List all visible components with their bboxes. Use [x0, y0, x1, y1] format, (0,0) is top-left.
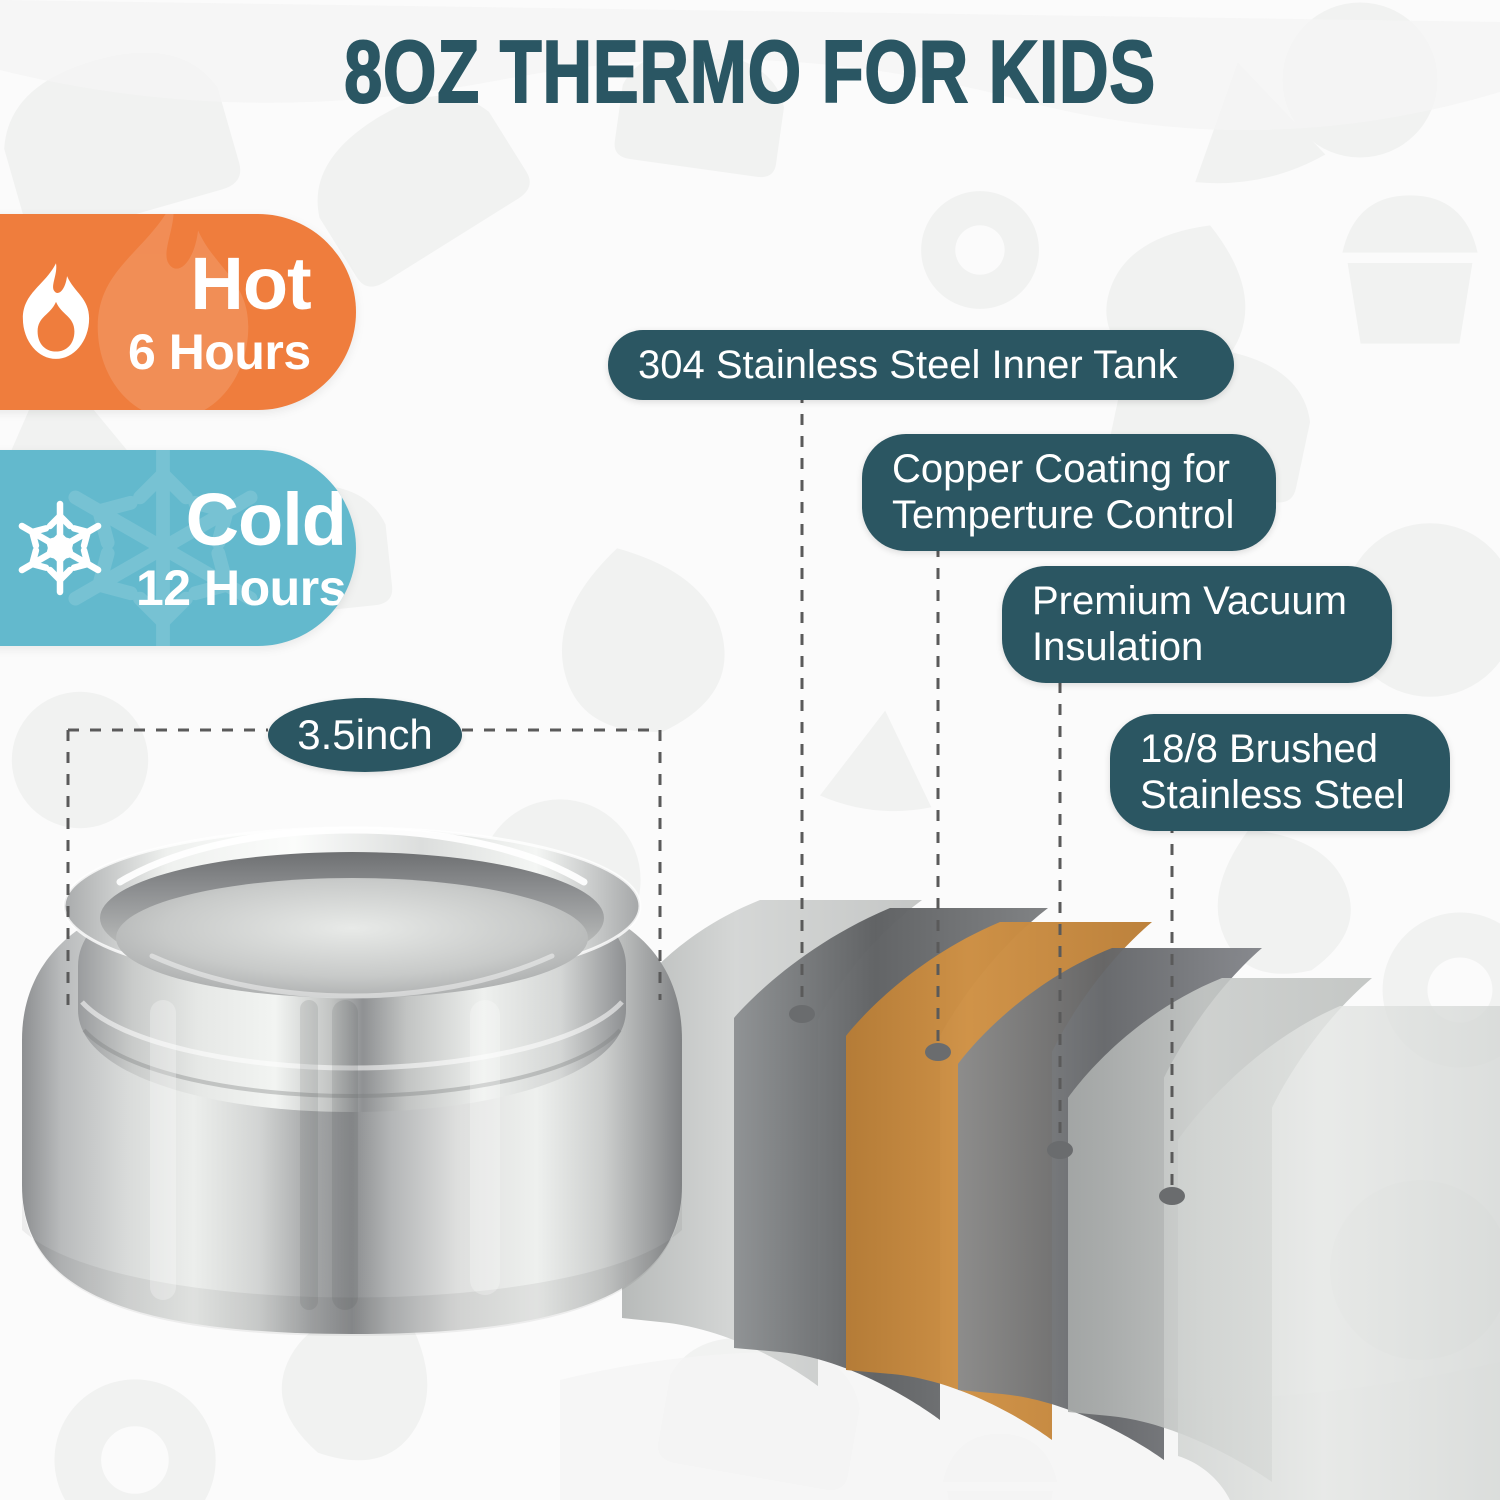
cold-badge-text-group: Cold 12 Hours — [136, 483, 346, 613]
hot-badge-text-group: Hot 6 Hours — [128, 247, 311, 377]
feature-pill-vacuum-insulation: Premium Vacuum Insulation — [1002, 566, 1392, 683]
performance-badge-hot: Hot 6 Hours — [0, 214, 356, 410]
feature-pill-copper-coating: Copper Coating for Temperture Control — [862, 434, 1276, 551]
feature-pill-inner-tank: 304 Stainless Steel Inner Tank — [608, 330, 1234, 400]
page-title: 8OZ THERMO FOR KIDS — [165, 26, 1335, 118]
cold-badge-duration: 12 Hours — [136, 563, 346, 613]
flame-icon — [10, 259, 102, 365]
size-callout-badge: 3.5inch — [268, 698, 462, 772]
hot-badge-title: Hot — [190, 247, 310, 321]
feature-pill-brushed-steel: 18/8 Brushed Stainless Steel — [1110, 714, 1450, 831]
hot-badge-duration: 6 Hours — [128, 327, 311, 377]
infographic-canvas: 8OZ THERMO FOR KIDS Hot 6 Hours — [0, 0, 1500, 1500]
performance-badge-cold: Cold 12 Hours — [0, 450, 356, 646]
cold-badge-title: Cold — [186, 483, 346, 557]
snowflake-icon — [10, 498, 110, 598]
